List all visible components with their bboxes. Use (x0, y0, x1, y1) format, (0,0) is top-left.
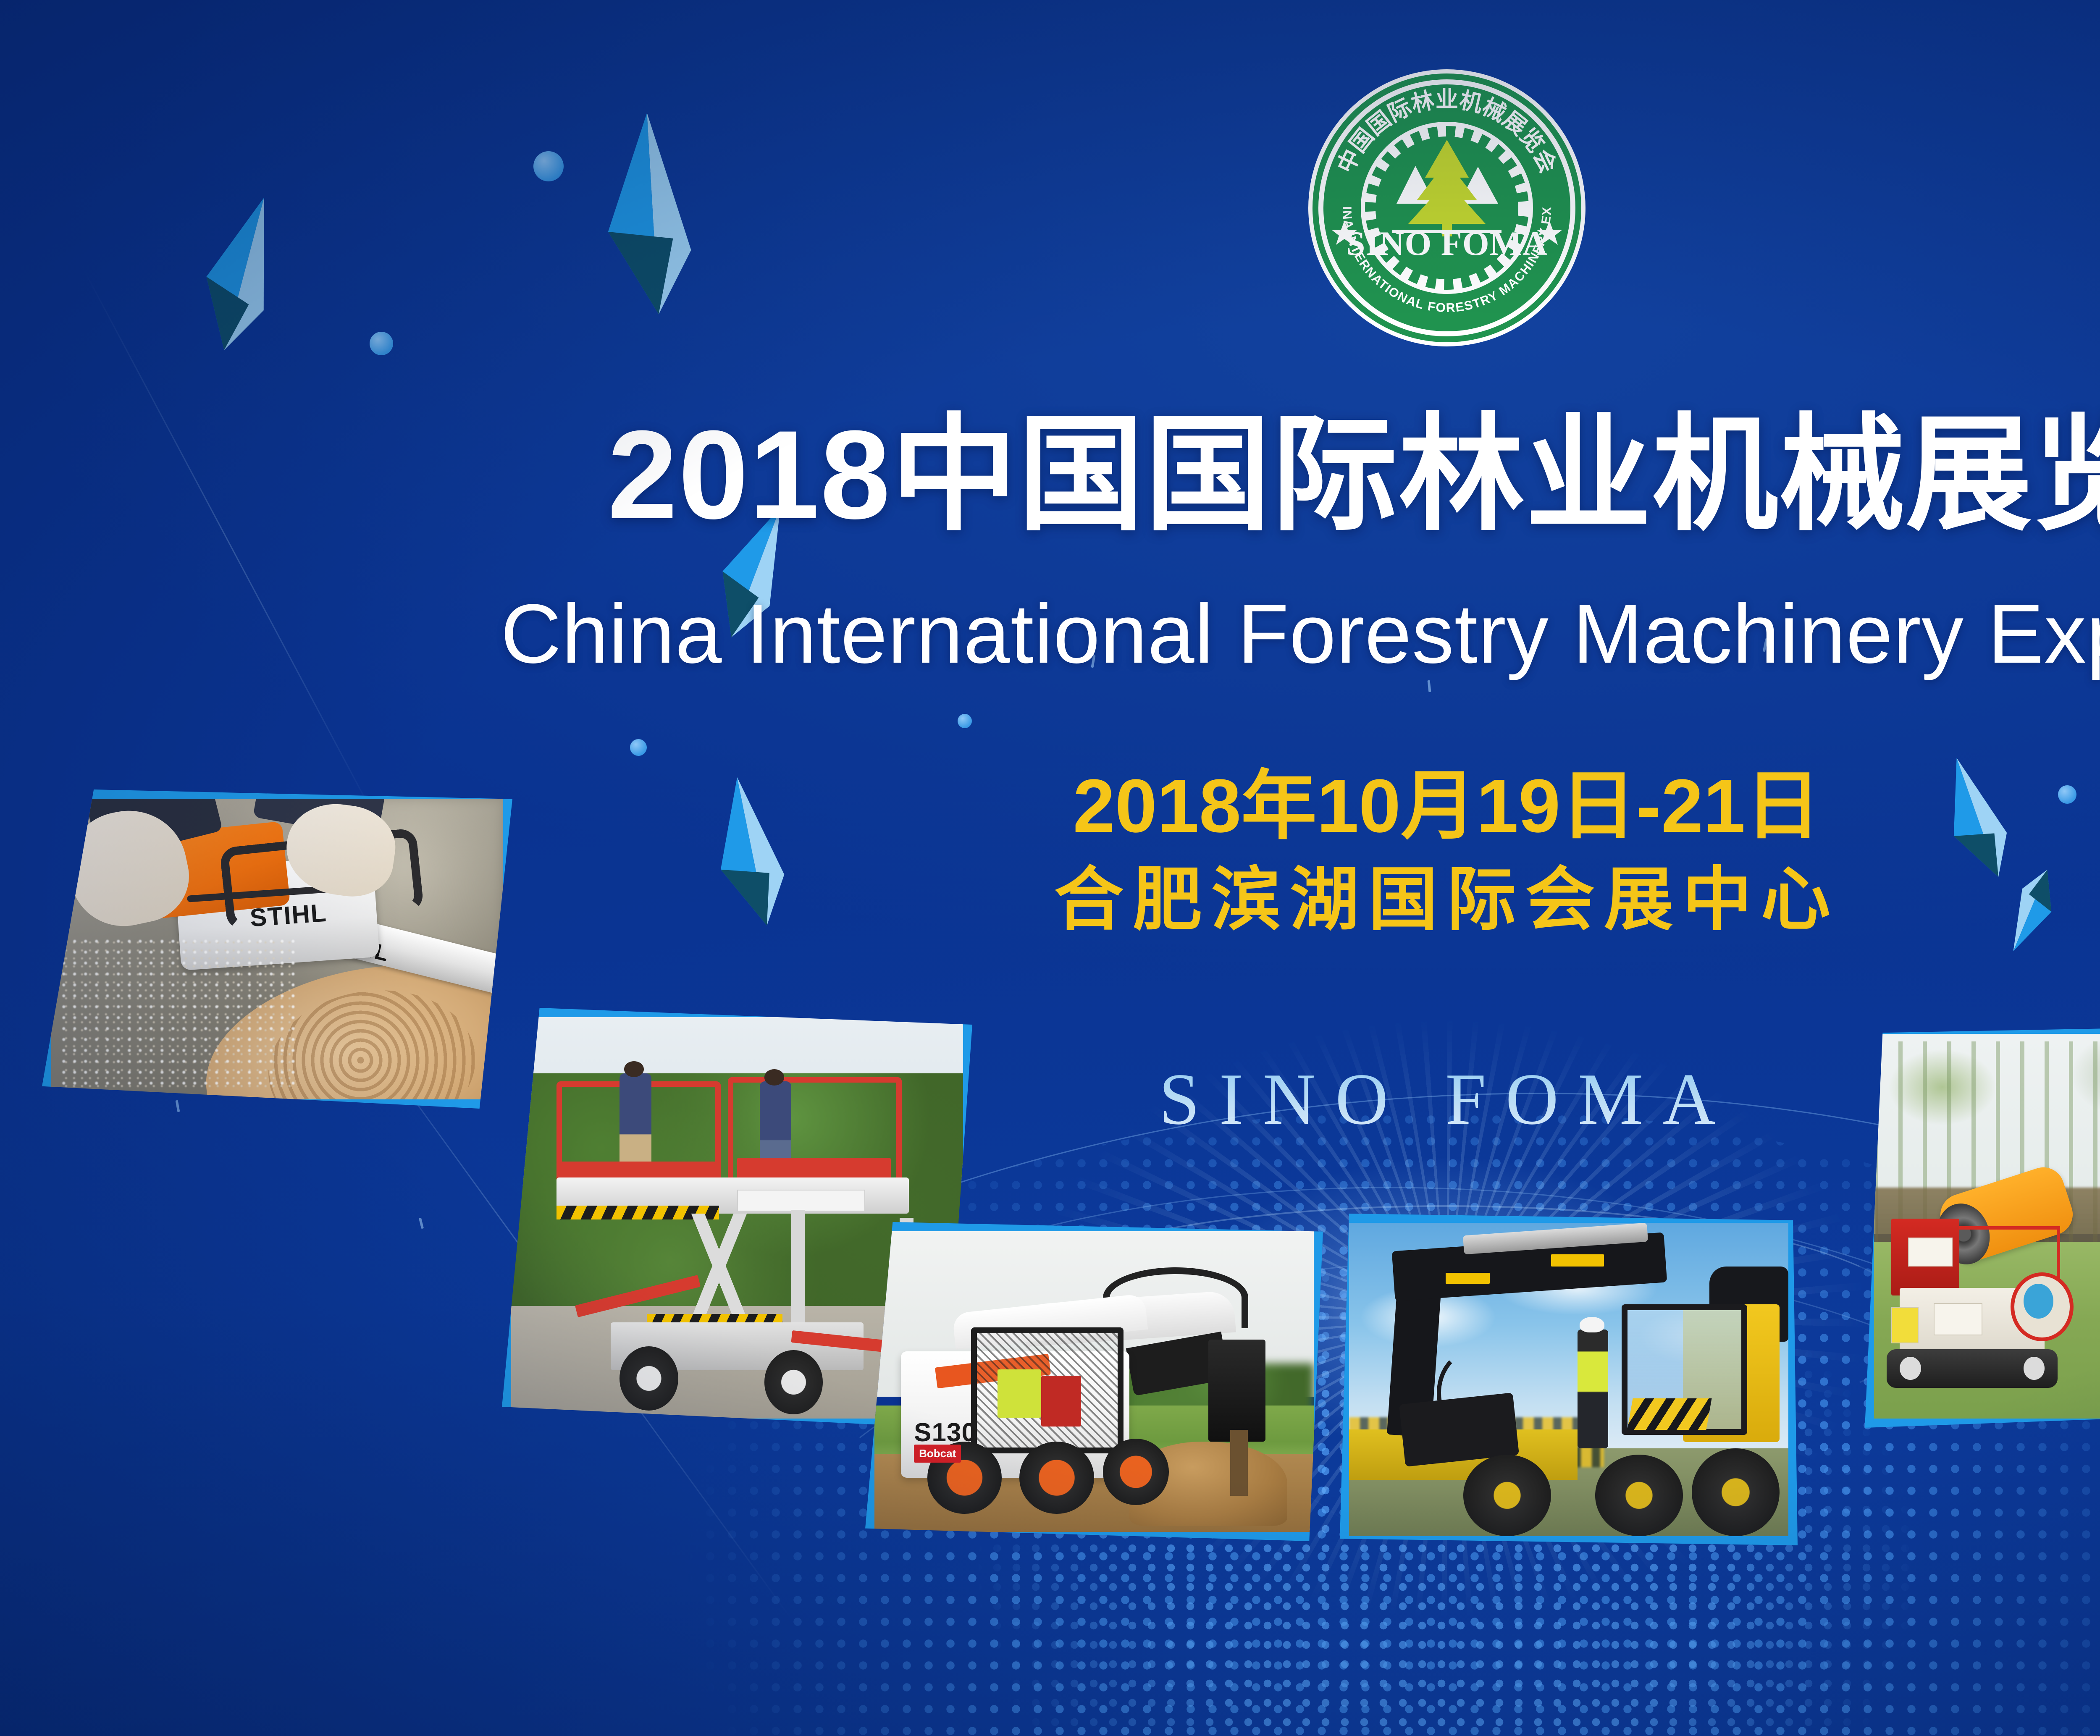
poster-canvas: SINO FOMA 中国国际林业机械展览会 CHINA INTERNATIONA… (0, 0, 2100, 1736)
vignette-overlay (0, 0, 2100, 1736)
